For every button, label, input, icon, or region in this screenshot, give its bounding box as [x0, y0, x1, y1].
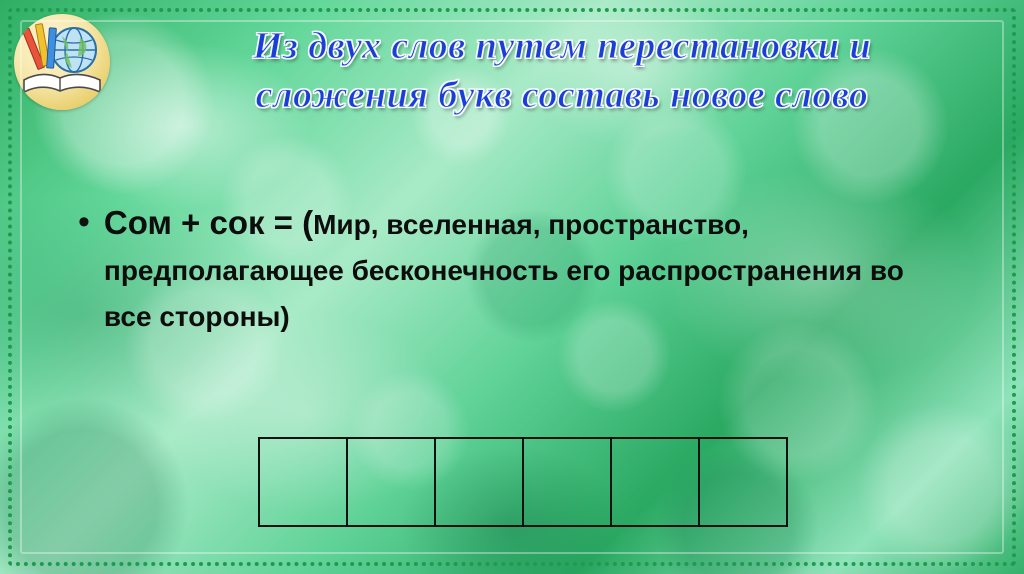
globe-icon — [52, 28, 96, 72]
answer-cell[interactable] — [610, 437, 698, 527]
open-book-icon — [24, 74, 100, 92]
title-line-1: Из двух слов путем перестановки и — [120, 22, 1004, 71]
answer-cell[interactable] — [698, 437, 788, 527]
task-equation: Сом + сок = ( — [104, 204, 313, 241]
answer-cell[interactable] — [522, 437, 610, 527]
school-emblem — [14, 14, 110, 110]
bullet-item: • Сом + сок = (Мир, вселенная, пространс… — [78, 200, 958, 339]
slide-canvas: Из двух слов путем перестановки и сложен… — [0, 0, 1024, 574]
title-line-2: сложения букв составь новое слово — [120, 71, 1004, 120]
bullet-point-icon: • — [78, 200, 90, 244]
answer-cell[interactable] — [434, 437, 522, 527]
task-paragraph: Сом + сок = (Мир, вселенная, пространств… — [104, 200, 958, 339]
pencils-icon — [22, 24, 56, 70]
answer-cell[interactable] — [258, 437, 346, 527]
answer-grid[interactable] — [258, 437, 788, 527]
slide-title: Из двух слов путем перестановки и сложен… — [120, 22, 1004, 119]
answer-cell[interactable] — [346, 437, 434, 527]
task-body: • Сом + сок = (Мир, вселенная, пространс… — [78, 200, 958, 339]
